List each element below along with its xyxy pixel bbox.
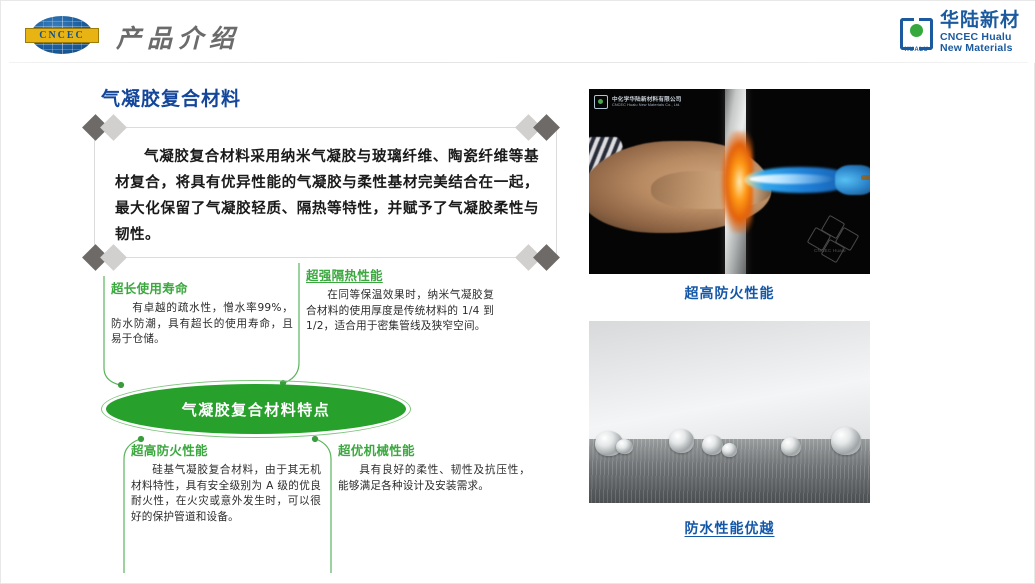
photo-corner-watermark: CNCEC Hualu (806, 218, 860, 262)
green-dot-shape (910, 24, 923, 37)
torch-nozzle-shape (835, 165, 870, 195)
feature-title: 超强隔热性能 (306, 265, 494, 284)
header-divider (9, 62, 1028, 63)
water-droplet-shape (831, 427, 861, 455)
flame-core-shape (749, 174, 835, 184)
feature-title: 超优机械性能 (338, 440, 530, 459)
photo-fire-test: 中化学华陆新材料有限公司 CNCEC Hualu New Materials C… (589, 89, 870, 274)
hualu-logo: HUALU 华陆新材 CNCEC Hualu New Materials (900, 12, 1020, 52)
cncec-wordmark-band: CNCEC (25, 28, 99, 43)
feature-fire-resistance: 超高防火性能 硅基气凝胶复合材料，由于其无机材料特性，具有安全级别为 A 级的优… (131, 440, 321, 525)
hualu-mark-icon: HUALU (900, 16, 933, 49)
feature-body: 硅基气凝胶复合材料，由于其无机材料特性，具有安全级别为 A 级的优良耐火性，在火… (131, 463, 321, 525)
features-diagram: 超长使用寿命 有卓越的疏水性，憎水率99%，防水防潮，具有超长的使用寿命，且易于… (94, 263, 564, 573)
ellipse-fill: 气凝胶复合材料特点 (106, 384, 406, 434)
intro-textbox: 气凝胶复合材料采用纳米气凝胶与玻璃纤维、陶瓷纤维等基材复合，将具有优异性能的气凝… (94, 127, 557, 258)
water-droplet-shape (702, 435, 723, 455)
slide: CNCEC 产品介绍 HUALU 华陆新材 CNCEC Hualu New Ma… (0, 0, 1035, 584)
feature-body: 具有良好的柔性、韧性及抗压性，能够满足各种设计及安装需求。 (338, 463, 530, 494)
caption-water-repellent: 防水性能优越 (589, 518, 870, 538)
watermark-logo-icon (594, 95, 608, 109)
water-droplet-shape (722, 443, 737, 457)
torch-handle-shape (861, 175, 870, 180)
intro-paragraph: 气凝胶复合材料采用纳米气凝胶与玻璃纤维、陶瓷纤维等基材复合，将具有优异性能的气凝… (115, 144, 539, 248)
hualu-en-line2: New Materials (940, 43, 1020, 54)
feature-long-life: 超长使用寿命 有卓越的疏水性，憎水率99%，防水防潮，具有超长的使用寿命，且易于… (111, 278, 293, 348)
ellipse-label: 气凝胶复合材料特点 (182, 399, 331, 420)
water-droplet-shape (781, 437, 801, 456)
feature-body: 在同等保温效果时，纳米气凝胶复合材料的使用厚度是传统材料的 1/4 到 1/2，… (306, 288, 494, 335)
corner-watermark-text: CNCEC Hualu (814, 248, 846, 253)
hualu-mark-label: HUALU (900, 47, 933, 53)
photo-watermark: 中化学华陆新材料有限公司 CNCEC Hualu New Materials C… (594, 95, 682, 109)
section-title: 气凝胶复合材料 (101, 84, 241, 111)
background-gradient-shape (589, 321, 870, 445)
feature-title: 超高防火性能 (131, 440, 321, 459)
watermark-en: CNCEC Hualu New Materials Co., Ltd. (612, 103, 682, 107)
cncec-wordmark-text: CNCEC (39, 31, 85, 41)
feature-title: 超长使用寿命 (111, 278, 293, 297)
water-droplet-shape (669, 429, 694, 453)
slide-header: CNCEC 产品介绍 HUALU 华陆新材 CNCEC Hualu New Ma… (1, 1, 1035, 63)
caption-fire-test: 超高防火性能 (589, 283, 870, 303)
diagram-center-ellipse: 气凝胶复合材料特点 (101, 380, 411, 438)
feature-mechanical: 超优机械性能 具有良好的柔性、韧性及抗压性，能够满足各种设计及安装需求。 (338, 440, 530, 494)
water-droplet-shape (616, 439, 633, 454)
hualu-cn-name: 华陆新材 (940, 11, 1020, 30)
photo-water-repellent (589, 321, 870, 503)
page-title: 产品介绍 (116, 19, 240, 55)
cncec-logo-icon: CNCEC (25, 15, 99, 55)
feature-body: 有卓越的疏水性，憎水率99%，防水防潮，具有超长的使用寿命，且易于仓储。 (111, 301, 293, 348)
feature-thermal-insulation: 超强隔热性能 在同等保温效果时，纳米气凝胶复合材料的使用厚度是传统材料的 1/4… (306, 265, 494, 335)
hualu-wordmark: 华陆新材 CNCEC Hualu New Materials (940, 11, 1020, 54)
